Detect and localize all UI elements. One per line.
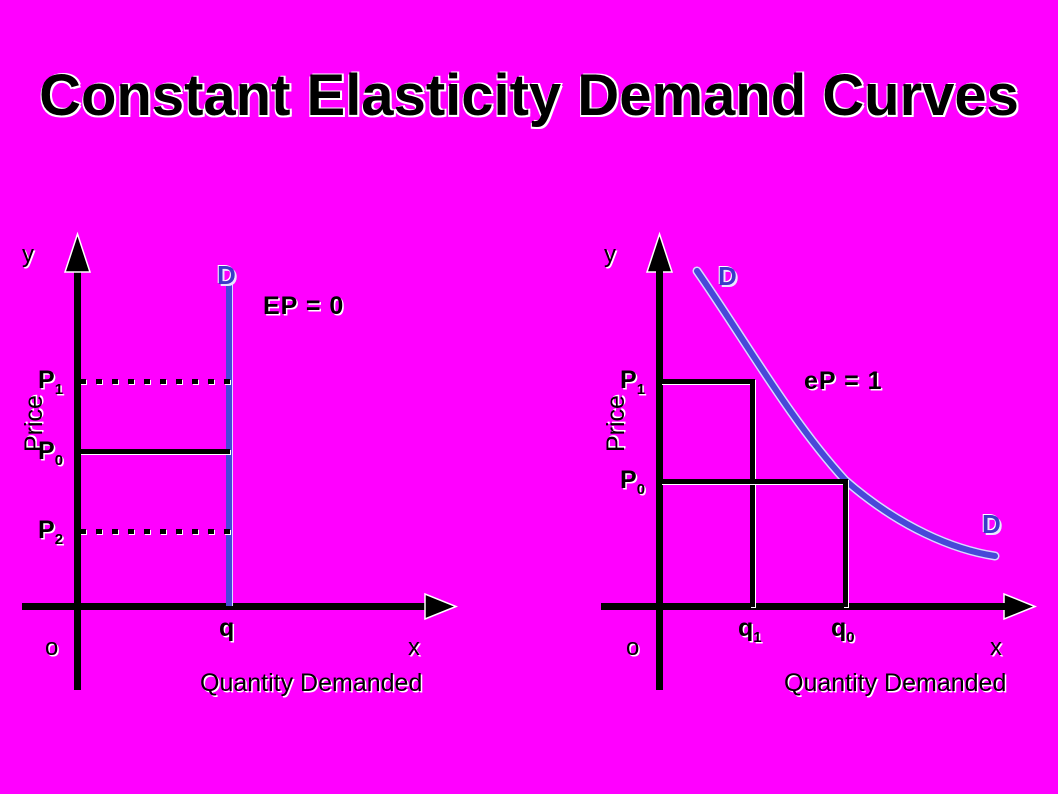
left-chart-origin-label: o <box>45 634 58 662</box>
right-chart-ytick-p0: P0 <box>620 466 645 498</box>
right-chart-xtick-q0-sub: 0 <box>846 629 854 646</box>
right-chart-xtick-q1: q1 <box>738 614 762 646</box>
left-chart-curve-label: D <box>217 260 236 291</box>
right-chart-guide-p1 <box>661 379 755 384</box>
right-chart-x-axis-title: Quantity Demanded <box>784 669 1006 698</box>
left-chart-demand-curve <box>226 284 232 606</box>
right-chart-guide-p0 <box>661 479 848 484</box>
right-chart-curve-label-bottom: D <box>982 509 1001 540</box>
right-chart-ytick-p0-base: P <box>620 466 637 494</box>
left-chart-guide-p1 <box>80 379 230 384</box>
right-chart-xtick-q0-base: q <box>831 614 846 642</box>
right-chart-ytick-p1: P1 <box>620 366 645 398</box>
left-chart-ytick-p0-sub: 0 <box>55 452 63 469</box>
right-chart-xtick-q1-base: q <box>738 614 753 642</box>
right-chart-y-axis <box>656 252 663 690</box>
left-chart-y-axis <box>74 252 81 690</box>
left-chart-guide-p0 <box>80 449 230 454</box>
right-chart-xtick-q1-sub: 1 <box>753 629 761 646</box>
right-chart-x-axis-letter: x <box>990 634 1002 662</box>
right-chart-y-axis-letter: y <box>604 241 616 269</box>
slide-canvas: Constant Elasticity Demand Curves y x o … <box>0 0 1058 794</box>
right-chart-elasticity-label: eP = 1 <box>804 367 883 396</box>
right-chart-y-axis-title: Price <box>602 395 631 452</box>
right-chart-guide-q0 <box>843 479 848 607</box>
page-title: Constant Elasticity Demand Curves <box>0 62 1058 129</box>
right-chart-ytick-p1-base: P <box>620 366 637 394</box>
left-chart-xtick-q: q <box>219 614 234 643</box>
left-chart-ytick-p2-base: P <box>38 516 55 544</box>
right-chart-xtick-q0: q0 <box>831 614 855 646</box>
left-chart-x-axis-title: Quantity Demanded <box>200 669 422 698</box>
left-chart-ytick-p1-base: P <box>38 366 55 394</box>
left-chart-ytick-p0: P0 <box>38 437 63 469</box>
right-chart-origin-label: o <box>626 634 639 662</box>
right-chart-x-axis <box>601 603 1011 610</box>
right-chart-ytick-p0-sub: 0 <box>637 481 645 498</box>
right-chart-curve-label-top: D <box>718 261 737 292</box>
left-chart-ytick-p1: P1 <box>38 366 63 398</box>
right-chart-ytick-p1-sub: 1 <box>637 381 645 398</box>
left-chart-elasticity-label: EP = 0 <box>263 292 344 321</box>
left-chart-ytick-p0-base: P <box>38 437 55 465</box>
right-chart-guide-q1 <box>750 379 755 607</box>
left-chart-ytick-p2: P2 <box>38 516 63 548</box>
left-chart-ytick-p2-sub: 2 <box>55 531 63 548</box>
left-chart-x-axis-letter: x <box>408 634 420 662</box>
left-chart-ytick-p1-sub: 1 <box>55 381 63 398</box>
left-chart-guide-p2 <box>80 529 230 534</box>
left-chart-y-axis-letter: y <box>22 241 34 269</box>
